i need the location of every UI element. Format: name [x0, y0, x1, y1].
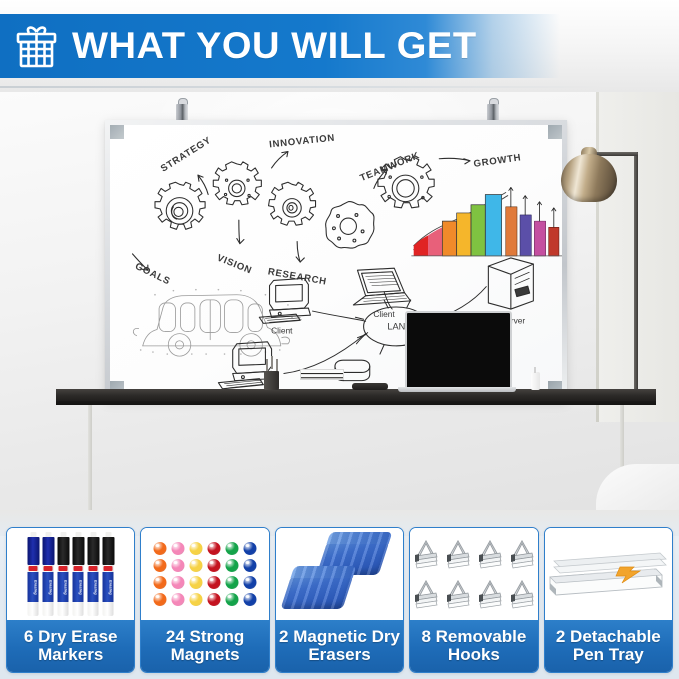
magnets-label-line2: Magnets: [171, 645, 240, 664]
sketch-label-lan: LAN: [387, 322, 405, 332]
desk-bottle: [531, 372, 540, 390]
board-corner-top-left: [110, 125, 124, 139]
magnet-item: [172, 576, 185, 589]
panel-label-magnets: 24 StrongMagnets: [141, 620, 268, 672]
product-panel-pen-tray[interactable]: 2 DetachablePen Tray: [544, 527, 673, 673]
product-panel-erasers[interactable]: 2 Magnetic DryErasers: [275, 527, 404, 673]
hooks-label-line2: Hooks: [448, 645, 500, 664]
product-panel-magnets[interactable]: 24 StrongMagnets: [140, 527, 269, 673]
marker-item: Erasing: [42, 532, 54, 616]
magnets-image: [141, 528, 268, 620]
sketch-label-client-2: Client: [373, 309, 395, 319]
infographic-root: WHAT YOU WILL GET: [0, 0, 679, 679]
magnet-item: [190, 559, 203, 572]
marker-item: Erasing: [57, 532, 69, 616]
magnet-item: [226, 542, 239, 555]
pen-cup: [264, 371, 279, 390]
hooks-label-line1: 8 Removable: [421, 627, 526, 646]
hook-item: [446, 579, 470, 609]
product-panel-hooks[interactable]: 8 RemovableHooks: [409, 527, 538, 673]
erasers-image: [276, 528, 403, 620]
marker-item: Erasing: [102, 532, 114, 616]
panel-label-pen-tray: 2 DetachablePen Tray: [545, 620, 672, 672]
magnet-item: [154, 576, 167, 589]
pen-tray-label-line2: Pen Tray: [573, 645, 644, 664]
hooks-image: [410, 528, 537, 620]
magnet-item: [190, 593, 203, 606]
markers-label-line1: 6 Dry Erase: [24, 627, 118, 646]
room-scene: STRATEGY INNOVATION TEAMWORK GROWTH GOAL…: [0, 92, 679, 510]
hook-item: [478, 579, 502, 609]
pen-tray-image: [545, 528, 672, 620]
wall-side-panel: [599, 92, 679, 422]
magnet-item: [244, 576, 257, 589]
gift-box-icon: [14, 22, 60, 70]
magnet-item: [244, 593, 257, 606]
markers-image: Erasing Erasing Erasing Erasing Erasing …: [7, 528, 134, 620]
board-corner-top-right: [548, 125, 562, 139]
magnet-item: [190, 576, 203, 589]
lamp-vertical-arm: [634, 152, 638, 402]
hook-item: [414, 579, 438, 609]
hook-item: [510, 579, 534, 609]
magnet-item: [154, 593, 167, 606]
mouse-pad: [352, 383, 388, 390]
pen-tray-illustration: [548, 543, 668, 605]
laptop-screen: [405, 311, 512, 391]
sketch-label-goals: GOALS: [133, 261, 172, 287]
desk-leg-left: [88, 405, 92, 510]
magnet-item: [154, 559, 167, 572]
lamp-shade: [561, 154, 617, 202]
markers-label-line2: Markers: [38, 645, 103, 664]
page-title: WHAT YOU WILL GET: [72, 25, 477, 67]
desk-edge: [56, 401, 656, 405]
desk-surface: [56, 389, 656, 401]
sketch-label-innovation: INNOVATION: [269, 133, 336, 151]
header-divider: [0, 86, 600, 88]
magnet-item: [190, 542, 203, 555]
magnet-item: [208, 559, 221, 572]
product-panel-markers[interactable]: Erasing Erasing Erasing Erasing Erasing …: [6, 527, 135, 673]
erasers-label-line1: 2 Magnetic Dry: [279, 627, 400, 646]
pen-2: [271, 356, 273, 369]
magnet-item: [244, 542, 257, 555]
magnet-item: [154, 542, 167, 555]
marker-item: Erasing: [87, 532, 99, 616]
magnets-label-line1: 24 Strong: [166, 627, 244, 646]
hook-item: [478, 539, 502, 569]
eraser-item: [280, 575, 353, 609]
magnet-item: [208, 576, 221, 589]
panel-label-markers: 6 Dry EraseMarkers: [7, 620, 134, 672]
sketch-label-vision: VISION: [215, 253, 253, 277]
magnet-item: [226, 576, 239, 589]
magnet-item: [172, 559, 185, 572]
pen-tray-label-line1: 2 Detachable: [556, 627, 661, 646]
hook-item: [510, 539, 534, 569]
sketch-label-client-1: Client: [271, 326, 293, 336]
magnet-item: [208, 593, 221, 606]
product-panels-section: Erasing Erasing Erasing Erasing Erasing …: [0, 510, 679, 679]
marker-item: Erasing: [72, 532, 84, 616]
sketch-label-strategy: STRATEGY: [159, 135, 213, 175]
magnet-item: [172, 593, 185, 606]
hook-item: [414, 539, 438, 569]
header-banner: WHAT YOU WILL GET: [0, 0, 679, 92]
sketch-bar-chart: [412, 187, 562, 256]
magnet-item: [226, 559, 239, 572]
sketch-label-teamwork: TEAMWORK: [359, 150, 422, 184]
laptop-base: [398, 387, 516, 392]
erasers-label-line2: Erasers: [308, 645, 370, 664]
magnet-item: [226, 593, 239, 606]
stacked-books: [300, 369, 344, 380]
office-chair: [596, 464, 679, 510]
sketch-label-growth: GROWTH: [473, 152, 522, 170]
panel-label-hooks: 8 RemovableHooks: [410, 620, 537, 672]
magnet-item: [244, 559, 257, 572]
marker-item: Erasing: [27, 532, 39, 616]
hook-item: [446, 539, 470, 569]
magnet-item: [208, 542, 221, 555]
magnet-item: [172, 542, 185, 555]
panel-label-erasers: 2 Magnetic DryErasers: [276, 620, 403, 672]
